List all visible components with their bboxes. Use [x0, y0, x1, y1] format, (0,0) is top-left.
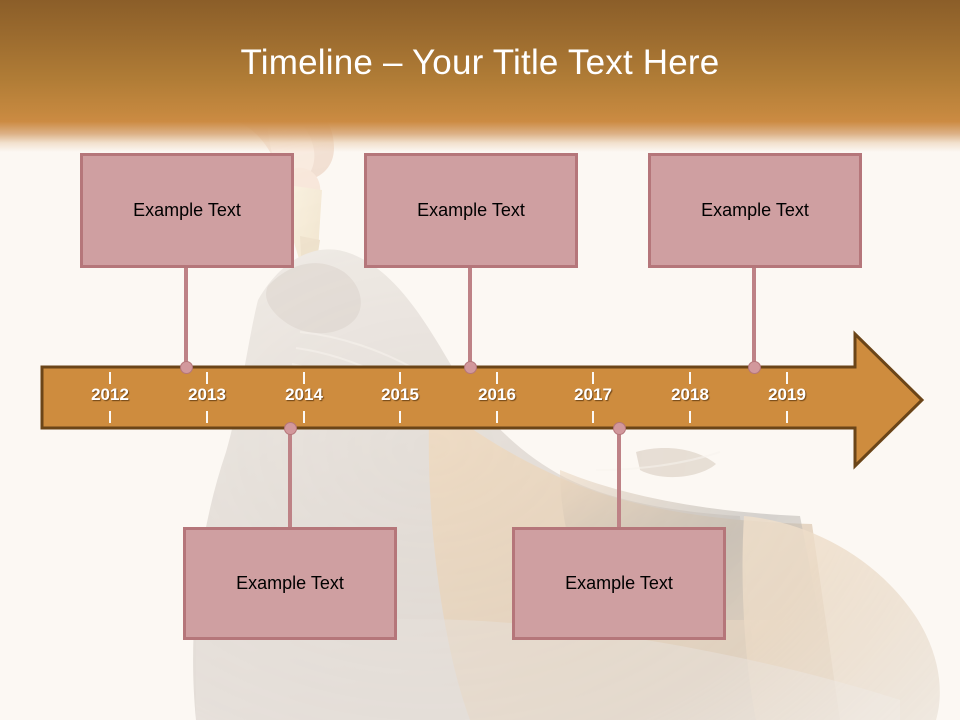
callout-box[interactable]: Example Text [183, 527, 397, 640]
connector-dot [284, 422, 297, 435]
callout-text: Example Text [701, 200, 809, 221]
connector-stem [617, 426, 621, 529]
year-label: 2016 [457, 385, 537, 405]
callout-box[interactable]: Example Text [648, 153, 862, 268]
callout-text: Example Text [565, 573, 673, 594]
page-title: Timeline – Your Title Text Here [0, 43, 960, 83]
callout-box[interactable]: Example Text [364, 153, 578, 268]
year-label: 2018 [650, 385, 730, 405]
callout-box[interactable]: Example Text [80, 153, 294, 268]
callout-text: Example Text [133, 200, 241, 221]
year-label: 2019 [747, 385, 827, 405]
connector-dot [464, 361, 477, 374]
year-label: 2013 [167, 385, 247, 405]
connector-stem [184, 268, 188, 369]
timeline-slide: Timeline – Your Title Text Here 2012 201… [0, 0, 960, 720]
callout-text: Example Text [236, 573, 344, 594]
connector-dot [748, 361, 761, 374]
year-label: 2017 [553, 385, 633, 405]
connector-stem [752, 268, 756, 369]
year-label: 2015 [360, 385, 440, 405]
connector-stem [288, 426, 292, 529]
callout-box[interactable]: Example Text [512, 527, 726, 640]
year-label: 2012 [70, 385, 150, 405]
callout-text: Example Text [417, 200, 525, 221]
connector-dot [180, 361, 193, 374]
connector-dot [613, 422, 626, 435]
connector-stem [468, 268, 472, 369]
year-label: 2014 [264, 385, 344, 405]
